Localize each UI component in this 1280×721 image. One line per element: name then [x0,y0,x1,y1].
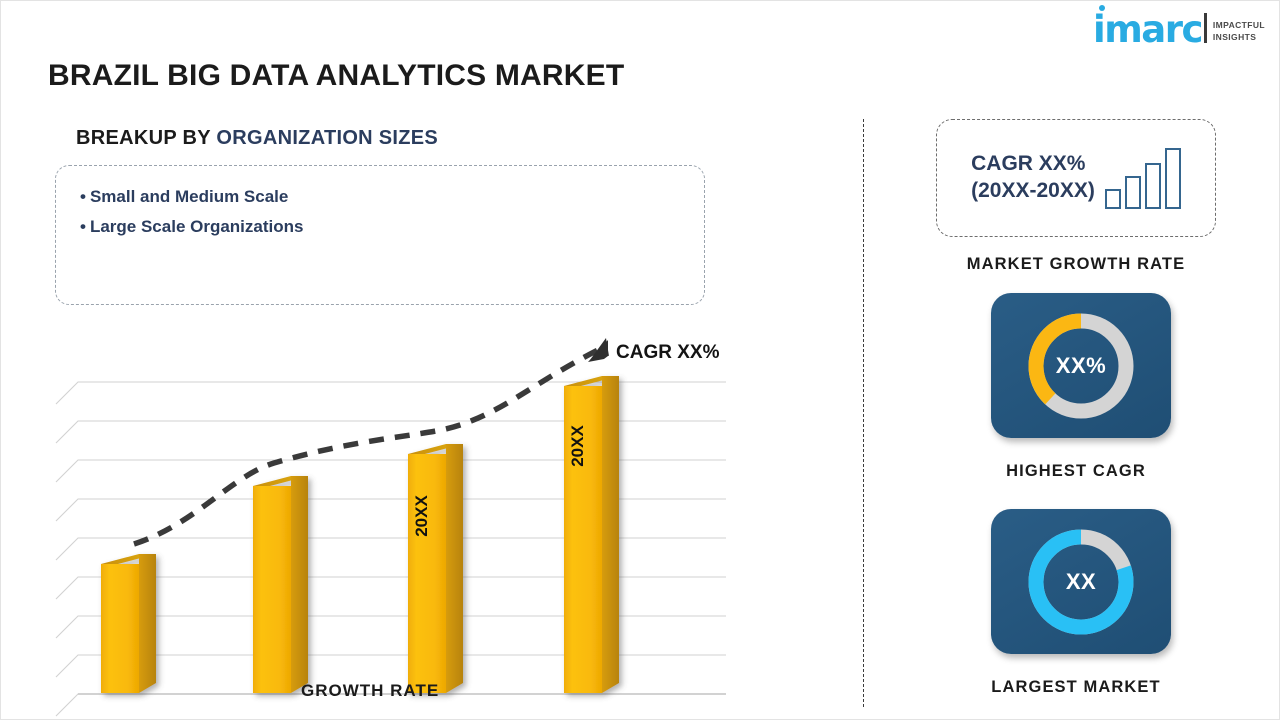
chart-cagr-annotation: CAGR XX% [616,342,719,364]
bullet-icon: • [80,187,86,206]
logo-tagline-line2: INSIGHTS [1213,32,1265,43]
list-item: •Small and Medium Scale [80,182,704,212]
bar-chart-icon [1105,148,1181,209]
cagr-value-line2: (20XX-20XX) [971,178,1095,205]
list-item: •Large Scale Organizations [80,212,704,242]
list-item-label: Large Scale Organizations [90,217,304,236]
page-title: BRAZIL BIG DATA ANALYTICS MARKET [48,59,624,93]
subtitle-highlight: ORGANIZATION SIZES [216,127,438,149]
chart-svg: 20XX 20XX [46,326,806,721]
bar-4-label: 20XX [568,425,587,467]
logo-wordmark-text: imarc [1093,8,1202,51]
trend-line [134,338,609,544]
bar-2 [253,476,308,693]
logo-dot-icon [1099,5,1105,11]
cagr-value-line1: CAGR XX% [971,151,1095,178]
breakup-list-box: •Small and Medium Scale •Large Scale Org… [55,165,705,305]
bar-3 [408,444,463,693]
largest-market-card: XX [991,509,1171,654]
market-growth-rate-value: CAGR XX% (20XX-20XX) [971,151,1095,205]
market-growth-rate-box: CAGR XX% (20XX-20XX) [936,119,1216,237]
bar-1 [101,554,156,693]
chart-gridlines [56,382,726,716]
chart-x-axis-label: GROWTH RATE [301,681,439,701]
vertical-divider [863,119,864,707]
imarc-logo: imarc IMPACTFUL INSIGHTS [1093,13,1265,46]
infographic-page: imarc IMPACTFUL INSIGHTS BRAZIL BIG DATA… [0,0,1280,720]
growth-bar-chart: 20XX 20XX [46,326,806,721]
market-growth-rate-caption: MARKET GROWTH RATE [881,255,1271,274]
highest-cagr-card: XX% [991,293,1171,438]
section-subtitle: BREAKUP BY ORGANIZATION SIZES [76,127,438,150]
logo-tagline-line1: IMPACTFUL [1213,20,1265,31]
highest-cagr-caption: HIGHEST CAGR [881,462,1271,481]
list-item-label: Small and Medium Scale [90,187,288,206]
bullet-icon: • [80,217,86,236]
highest-cagr-value: XX% [1056,353,1106,379]
largest-market-caption: LARGEST MARKET [881,678,1271,697]
largest-market-value: XX [1066,569,1096,595]
logo-tagline: IMPACTFUL INSIGHTS [1213,20,1265,43]
logo-wordmark: imarc [1093,13,1202,46]
metrics-panel: CAGR XX% (20XX-20XX) MARKET GROWTH RATE … [881,119,1271,714]
subtitle-prefix: BREAKUP BY [76,127,216,149]
logo-divider-bar [1204,13,1207,43]
bar-3-label: 20XX [412,495,431,537]
bar-4 [564,376,619,693]
